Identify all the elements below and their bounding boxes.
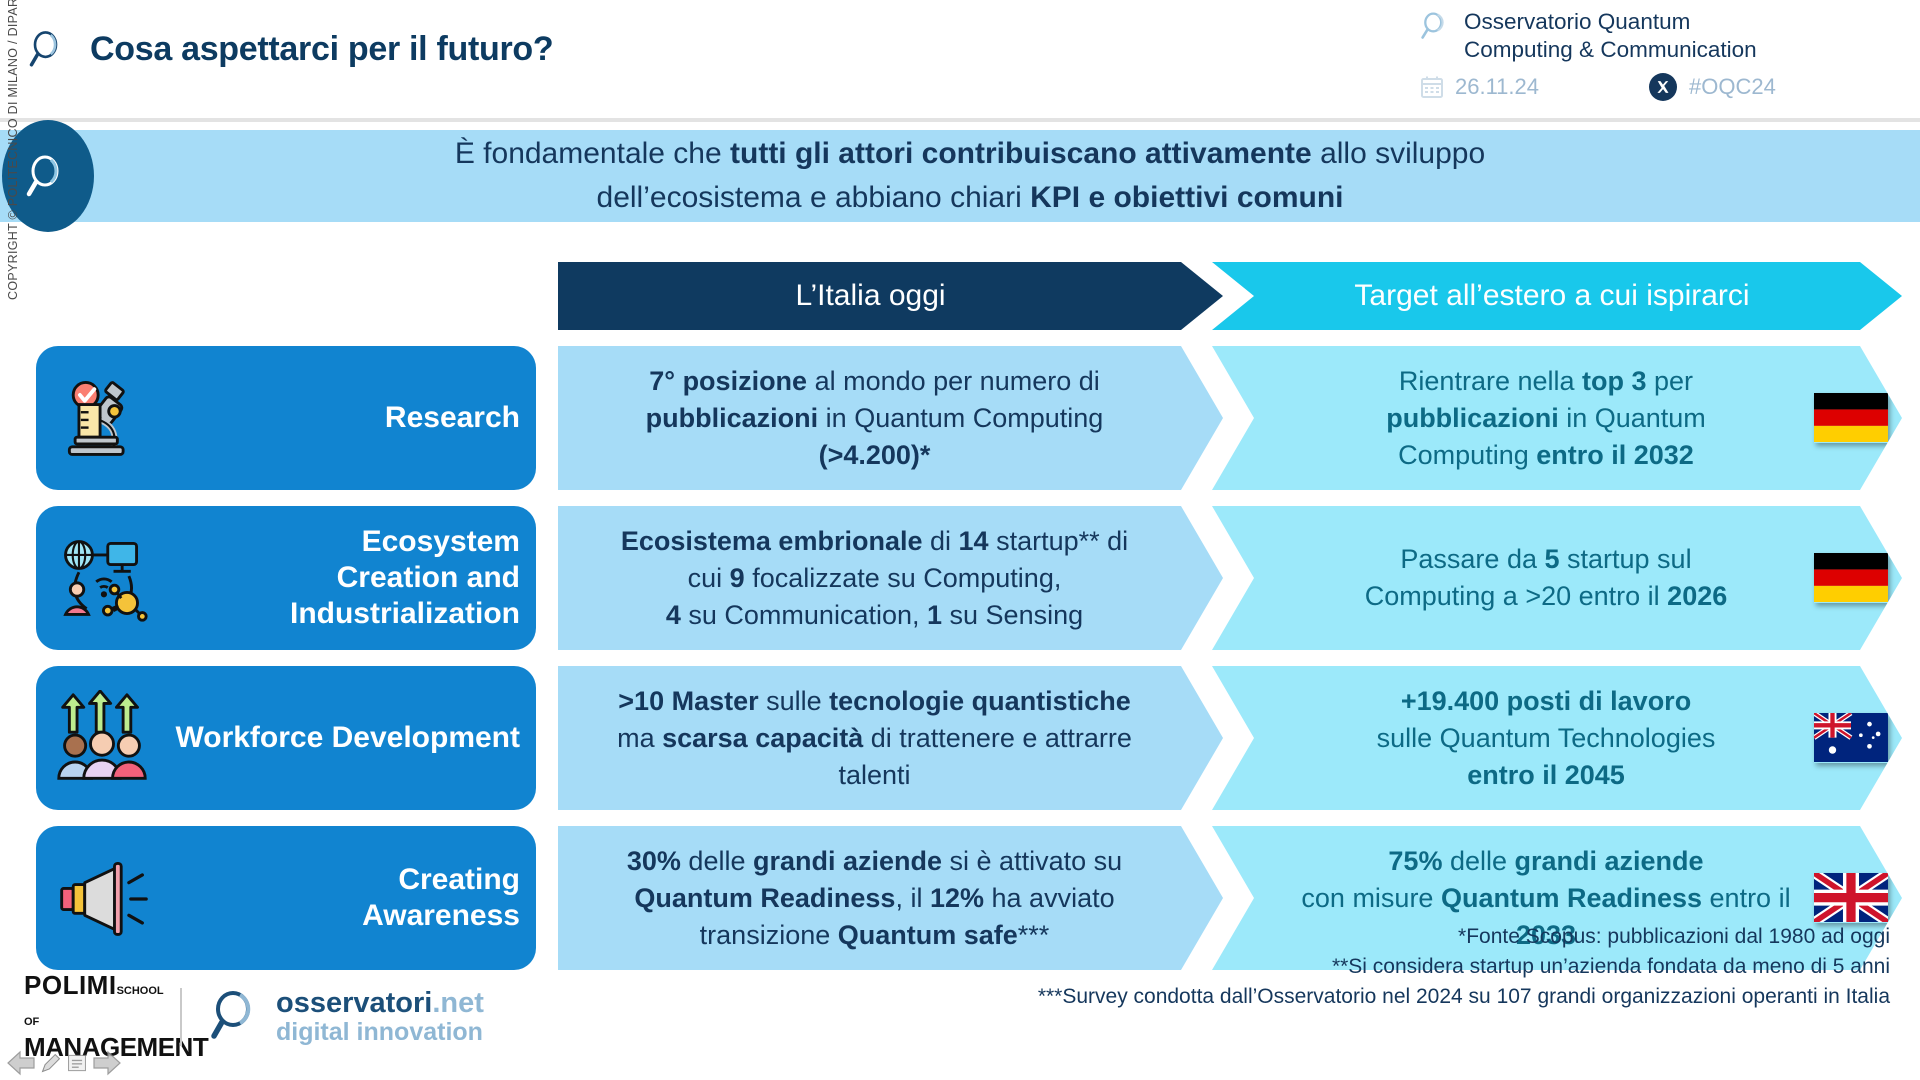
footnote-2: **Si considera startup un’azienda fondat…	[1038, 952, 1890, 982]
brand-name-line1: Osservatorio Quantum	[1464, 8, 1757, 36]
polimi-logo: POLIMISCHOOL OF MANAGEMENT	[24, 973, 154, 1060]
banner-line1-bold: tutti gli attori contribuiscano attivame…	[730, 137, 1312, 170]
category-pill[interactable]: Workforce Development	[36, 666, 536, 810]
banner-line2-bold: KPI e obiettivi comuni	[1030, 181, 1343, 214]
magnifier-icon	[28, 28, 70, 70]
pencil-icon	[40, 1050, 62, 1076]
x-twitter-icon[interactable]	[1649, 73, 1677, 101]
footnotes: *Fonte Scopus: pubblicazioni dal 1980 ad…	[1038, 922, 1890, 1012]
slide-root: Cosa aspettarci per il futuro? Osservato…	[0, 0, 1920, 1080]
category-pill[interactable]: EcosystemCreation andIndustrialization	[36, 506, 536, 650]
footnote-3: ***Survey condotta dall’Osservatorio nel…	[1038, 982, 1890, 1012]
banner-line1-post: allo sviluppo	[1312, 137, 1485, 170]
footer-divider	[180, 988, 182, 1046]
italy-cell: >10 Master sulle tecnologie quantistiche…	[558, 666, 1223, 810]
target-cell: +19.400 posti di lavorosulle Quantum Tec…	[1212, 666, 1902, 810]
osservatori-logo: osservatori.net digital innovation	[208, 987, 484, 1046]
event-hashtag: #OQC24	[1689, 74, 1776, 100]
key-message-banner: È fondamentale che tutti gli attori cont…	[0, 130, 1920, 222]
osservatori-subtitle: digital innovation	[276, 1018, 484, 1046]
column-header-italy: L’Italia oggi	[558, 262, 1223, 330]
microscope-icon	[54, 370, 150, 466]
target-cell-text: +19.400 posti di lavorosulle Quantum Tec…	[1377, 683, 1716, 794]
footnote-1: *Fonte Scopus: pubblicazioni dal 1980 ad…	[1038, 922, 1890, 952]
osservatori-magnifier-icon	[1420, 11, 1450, 41]
osservatori-name: osservatori	[276, 987, 432, 1019]
osservatori-logo-icon	[208, 987, 262, 1046]
australia-flag	[1814, 713, 1888, 763]
osservatori-tld: .net	[432, 987, 484, 1019]
uk-flag	[1814, 873, 1888, 923]
page-title: Cosa aspettarci per il futuro?	[90, 30, 553, 69]
category-label: Workforce Development	[175, 720, 520, 756]
column-header-target: Target all’estero a cui ispirarci	[1212, 262, 1902, 330]
banner-text: È fondamentale che tutti gli attori cont…	[0, 132, 1920, 220]
comparison-row: EcosystemCreation andIndustrialization E…	[0, 506, 1920, 650]
nav-arrows[interactable]	[6, 1050, 122, 1076]
banner-line2-pre: dell’ecosistema e abbiano chiari	[597, 181, 1031, 214]
category-pill[interactable]: CreatingAwareness	[36, 826, 536, 970]
footer-logos: POLIMISCHOOL OF MANAGEMENT osservatori.n…	[24, 973, 484, 1060]
brand-block: Osservatorio Quantum Computing & Communi…	[1420, 8, 1890, 101]
italy-cell-text: >10 Master sulle tecnologie quantistiche…	[617, 683, 1132, 794]
italy-cell: Ecosistema embrionale di 14 startup** di…	[558, 506, 1223, 650]
category-pill[interactable]: Research	[36, 346, 536, 490]
comparison-row: Research 7° posizione al mondo per numer…	[0, 346, 1920, 490]
italy-cell: 7° posizione al mondo per numero dipubbl…	[558, 346, 1223, 490]
calendar-icon	[1420, 75, 1444, 99]
network-ecosystem-icon	[54, 530, 150, 626]
target-cell-text: Passare da 5 startup sulComputing a >20 …	[1365, 541, 1728, 615]
copyright-vertical: COPYRIGHT © POLITECNICO DI MILANO / DIPA…	[6, 0, 20, 300]
italy-cell-text: Ecosistema embrionale di 14 startup** di…	[621, 523, 1128, 634]
target-cell: Passare da 5 startup sulComputing a >20 …	[1212, 506, 1902, 650]
target-cell-text: Rientrare nella top 3 perpubblicazioni i…	[1386, 363, 1706, 474]
germany-flag	[1814, 393, 1888, 443]
megaphone-icon	[54, 850, 150, 946]
category-label: CreatingAwareness	[362, 862, 520, 934]
brand-name-line2: Computing & Communication	[1464, 36, 1757, 64]
notes-icon	[66, 1050, 88, 1076]
people-growth-icon	[54, 690, 150, 786]
banner-line1-pre: È fondamentale che	[455, 137, 730, 170]
header-divider	[0, 118, 1920, 122]
event-date: 26.11.24	[1455, 74, 1539, 100]
category-label: EcosystemCreation andIndustrialization	[290, 524, 520, 632]
target-cell: Rientrare nella top 3 perpubblicazioni i…	[1212, 346, 1902, 490]
germany-flag	[1814, 553, 1888, 603]
comparison-row: Workforce Development >10 Master sulle t…	[0, 666, 1920, 810]
category-label: Research	[385, 400, 520, 436]
prev-arrow-icon	[6, 1050, 36, 1076]
italy-cell-text: 7° posizione al mondo per numero dipubbl…	[646, 363, 1104, 474]
title-area: Cosa aspettarci per il futuro?	[28, 28, 553, 70]
slide-header: Cosa aspettarci per il futuro? Osservato…	[0, 0, 1920, 118]
polimi-line1: POLIMI	[24, 970, 117, 1000]
next-arrow-icon	[92, 1050, 122, 1076]
